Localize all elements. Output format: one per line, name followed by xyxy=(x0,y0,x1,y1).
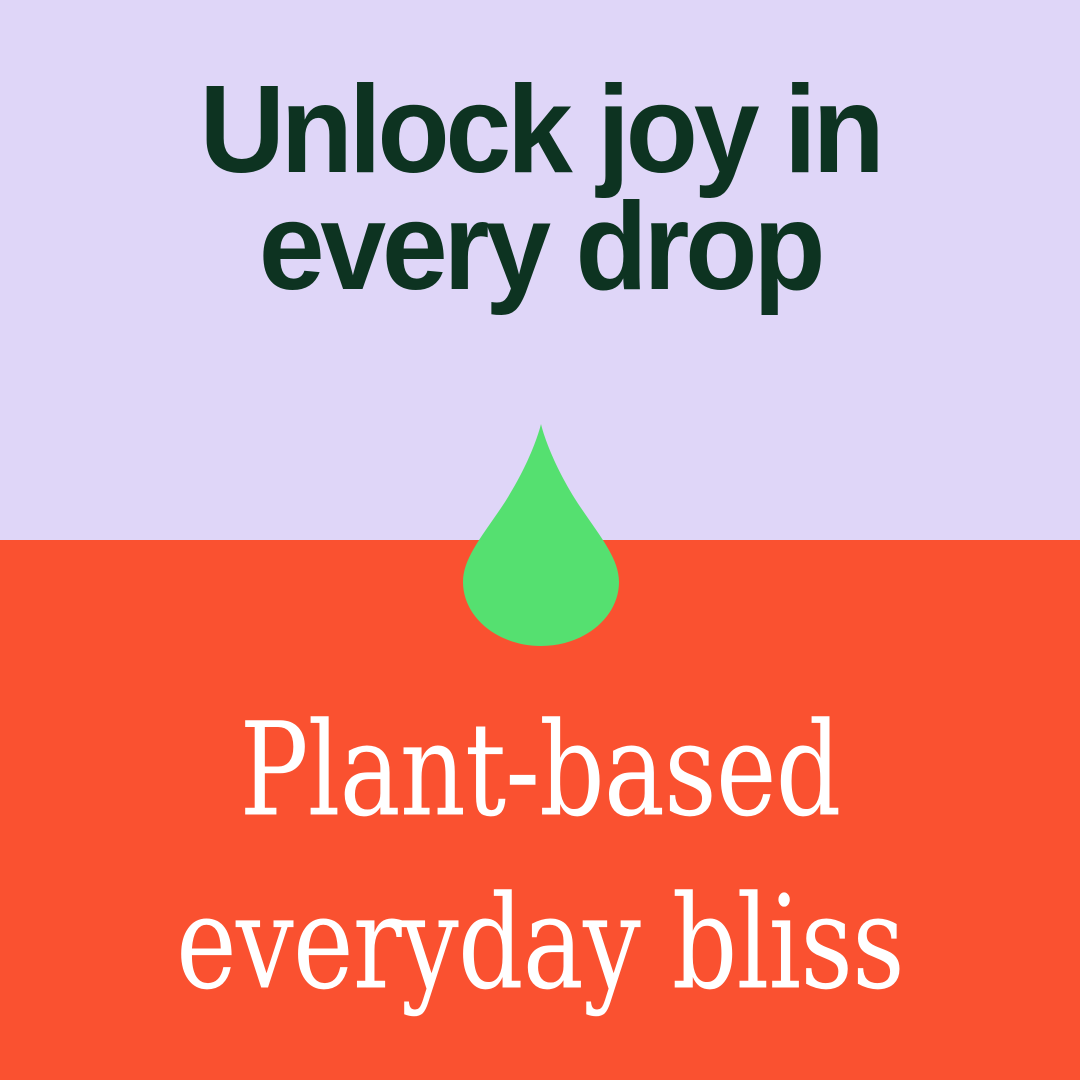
headline-line-2: every drop xyxy=(24,189,1055,306)
subheadline: Plant-based everyday bliss xyxy=(0,684,1080,1030)
headline: Unlock joy in every drop xyxy=(0,72,1080,305)
water-droplet-icon xyxy=(463,424,619,646)
headline-line-1: Unlock joy in xyxy=(24,72,1055,189)
promo-poster: Unlock joy in every drop Plant-based eve… xyxy=(0,0,1080,1080)
subheadline-line-1: Plant-based xyxy=(86,679,993,863)
subheadline-line-2: everyday bliss xyxy=(86,852,993,1036)
